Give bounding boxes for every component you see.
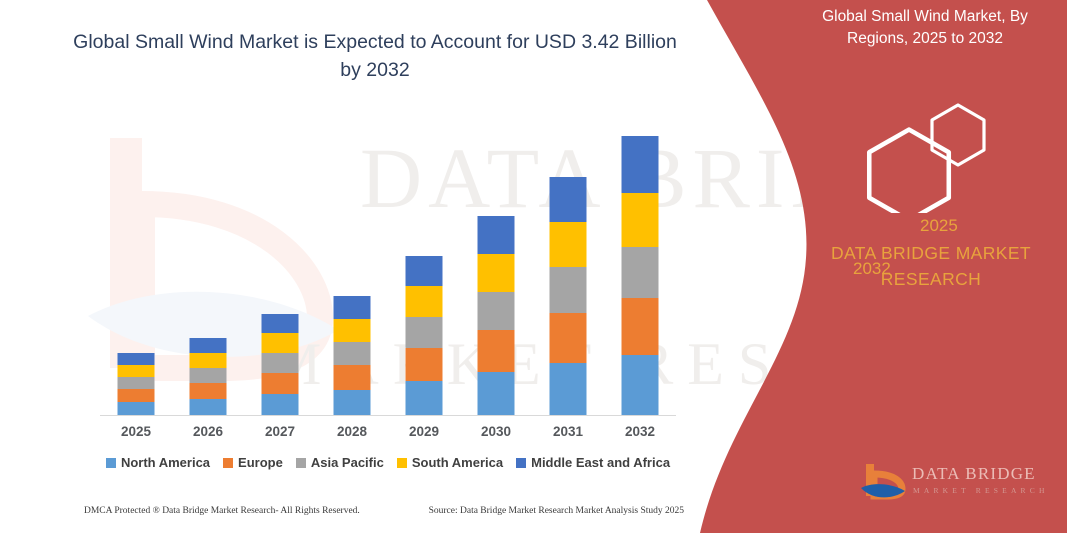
bar-segment (550, 177, 587, 222)
bar-segment (622, 193, 659, 247)
bar-segment (262, 373, 299, 394)
legend-label: Middle East and Africa (531, 455, 670, 470)
bar-group (460, 120, 532, 416)
bar-segment (622, 355, 659, 416)
bar-segment (334, 390, 371, 416)
bar-segment (118, 353, 155, 365)
chart-title: Global Small Wind Market is Expected to … (70, 28, 680, 85)
legend-item[interactable]: Europe (223, 455, 283, 470)
bar-segment (406, 256, 443, 286)
bar-segment (406, 286, 443, 317)
data-bridge-logo-icon (860, 462, 908, 508)
x-axis-tick-label: 2028 (316, 424, 388, 439)
panel-brand-text: DATA BRIDGE MARKET RESEARCH (795, 240, 1067, 293)
bar-segment (334, 319, 371, 342)
stacked-bar (334, 296, 371, 416)
bar-group (244, 120, 316, 416)
footer-source: Source: Data Bridge Market Research Mark… (429, 506, 684, 516)
bar-segment (262, 394, 299, 416)
bar-segment (622, 136, 659, 193)
legend-swatch (223, 458, 233, 468)
brand-logo: DATA BRIDGE MARKET RESEARCH (860, 462, 1050, 510)
stacked-bar (478, 216, 515, 416)
logo-title: DATA BRIDGE (912, 464, 1036, 484)
hexagon-shapes-icon (812, 88, 1012, 213)
bar-segment (622, 247, 659, 298)
stacked-bar (550, 177, 587, 416)
stacked-bar (406, 256, 443, 416)
legend-item[interactable]: Asia Pacific (296, 455, 384, 470)
hexagon-2032-shape (869, 130, 949, 213)
bar-group (604, 120, 676, 416)
legend-swatch (397, 458, 407, 468)
bar-segment (118, 377, 155, 389)
x-axis-tick-label: 2026 (172, 424, 244, 439)
bar-segment (550, 313, 587, 363)
stacked-bar (622, 136, 659, 416)
bar-group (100, 120, 172, 416)
legend-label: Europe (238, 455, 283, 470)
legend-swatch (296, 458, 306, 468)
bar-segment (334, 365, 371, 390)
bar-segment (478, 216, 515, 254)
bar-segment (550, 363, 587, 416)
bar-chart-plot (100, 120, 676, 416)
stacked-bar (190, 338, 227, 416)
x-axis-tick-label: 2030 (460, 424, 532, 439)
logo-subtitle: MARKET RESEARCH (913, 486, 1049, 495)
chart-legend: North AmericaEuropeAsia PacificSouth Ame… (100, 455, 676, 470)
bar-group (532, 120, 604, 416)
x-axis-tick-label: 2027 (244, 424, 316, 439)
infographic-canvas: DATA BRIDGE MARKET RESEARCH Global Small… (0, 0, 1067, 533)
hexagon-2025-shape (932, 105, 984, 165)
x-axis-tick-label: 2025 (100, 424, 172, 439)
x-axis-line (100, 415, 676, 416)
x-axis-labels: 20252026202720282029203020312032 (100, 424, 676, 446)
bar-group (316, 120, 388, 416)
bar-segment (406, 381, 443, 416)
bar-segment (262, 333, 299, 353)
legend-item[interactable]: North America (106, 455, 210, 470)
x-axis-tick-label: 2029 (388, 424, 460, 439)
bar-group (172, 120, 244, 416)
footer-copyright: DMCA Protected ® Data Bridge Market Rese… (84, 506, 360, 516)
hexagon-2025-label: 2025 (920, 216, 958, 236)
panel-title: Global Small Wind Market, By Regions, 20… (790, 6, 1060, 51)
x-axis-tick-label: 2032 (604, 424, 676, 439)
legend-swatch (106, 458, 116, 468)
bar-segment (190, 368, 227, 383)
bar-segment (622, 298, 659, 355)
bar-segment (478, 254, 515, 292)
bar-segment (334, 296, 371, 319)
footer: DMCA Protected ® Data Bridge Market Rese… (84, 506, 684, 516)
stacked-bar (262, 314, 299, 416)
bar-segment (478, 372, 515, 416)
stacked-bar (118, 353, 155, 416)
bar-segment (190, 399, 227, 416)
bar-segment (406, 317, 443, 348)
bar-segment (550, 267, 587, 313)
bar-segment (190, 338, 227, 353)
legend-swatch (516, 458, 526, 468)
bar-segment (190, 353, 227, 368)
bar-segment (118, 389, 155, 402)
legend-item[interactable]: South America (397, 455, 503, 470)
legend-label: Asia Pacific (311, 455, 384, 470)
bar-segment (118, 402, 155, 416)
bar-segment (262, 314, 299, 333)
x-axis-tick-label: 2031 (532, 424, 604, 439)
bar-segment (478, 292, 515, 330)
bar-segment (118, 365, 155, 377)
bar-group (388, 120, 460, 416)
bar-segment (262, 353, 299, 373)
legend-label: South America (412, 455, 503, 470)
bar-segment (406, 348, 443, 381)
legend-item[interactable]: Middle East and Africa (516, 455, 670, 470)
bar-segment (334, 342, 371, 365)
legend-label: North America (121, 455, 210, 470)
bar-segment (190, 383, 227, 399)
bar-segment (550, 222, 587, 267)
bar-segment (478, 330, 515, 372)
hexagon-group: 2025 2032 (812, 88, 1012, 213)
